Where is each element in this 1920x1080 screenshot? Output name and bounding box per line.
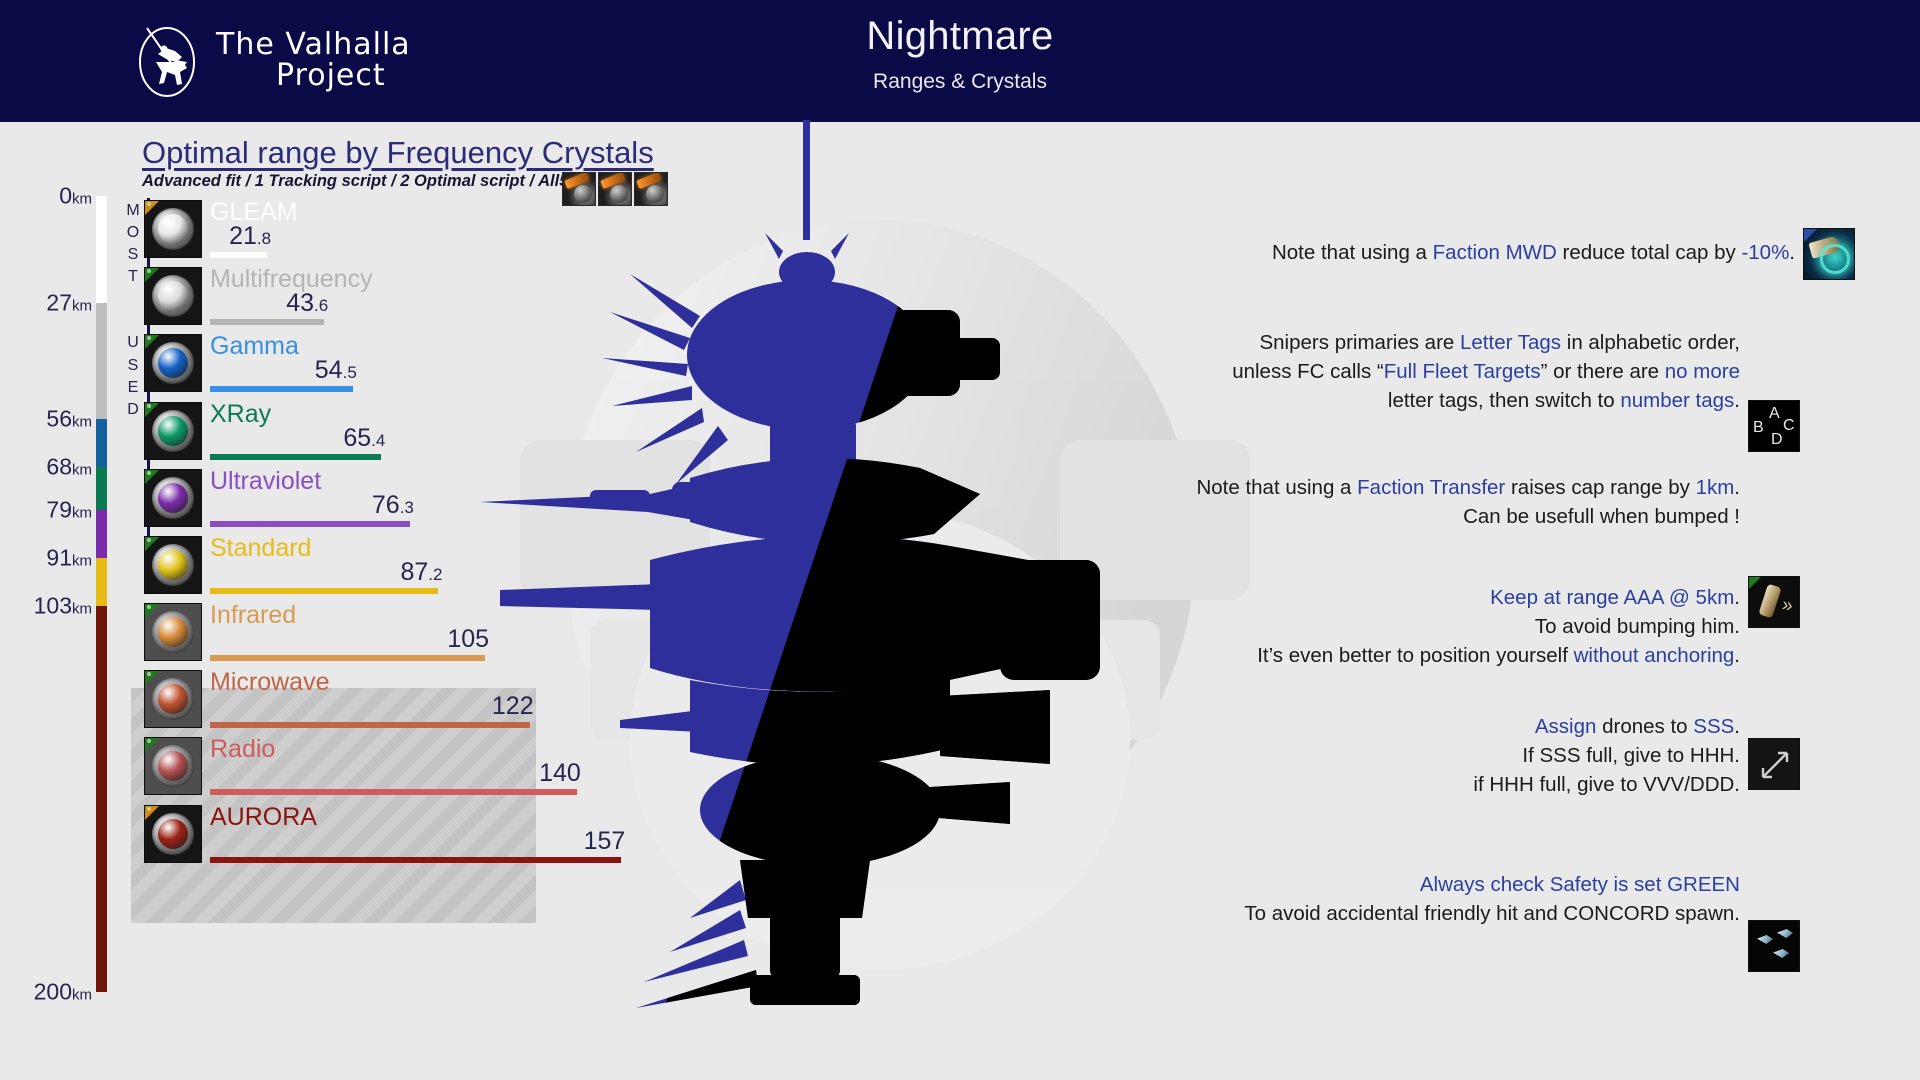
crystal-range-bar [210,857,621,863]
note-tags: Snipers primaries are Letter Tags in alp… [1232,328,1740,415]
crystal-icon [144,805,202,863]
faction-transfer-icon: » [1748,576,1800,628]
note-safety: Always check Safety is set GREENTo avoid… [1244,870,1740,928]
note-line: To avoid bumping him. [1257,612,1740,641]
crystal-range-value: 21.8 [229,222,271,251]
letter-tags-icon: ABCD [1748,400,1800,452]
note-line: letter tags, then switch to number tags. [1232,386,1740,415]
crystal-name: Ultraviolet [210,467,321,496]
crystal-range-value: 122 [492,692,534,721]
note-line: To avoid accidental friendly hit and CON… [1244,899,1740,928]
crystal-row[interactable]: Ultraviolet76.3 [0,469,700,529]
crystal-range-bar [210,386,353,392]
crystal-row[interactable]: GLEAM21.8 [0,200,700,260]
nightmare-ship-silhouette [440,120,1340,1080]
crystal-row[interactable]: XRay65.4 [0,402,700,462]
note-line: Note that using a Faction MWD reduce tot… [1272,238,1795,267]
crystal-row[interactable]: AURORA157 [0,805,700,865]
crystal-icon [144,670,202,728]
crystal-icon [144,536,202,594]
axis-segment [96,606,107,992]
keep-at-range-icon [1748,738,1800,790]
crystal-icon [144,603,202,661]
chart-title: Optimal range by Frequency Crystals [142,135,654,171]
crystal-icon [144,402,202,460]
page-header: The Valhalla Project Nightmare Ranges & … [0,0,1920,122]
page-root: The Valhalla Project Nightmare Ranges & … [0,0,1920,1080]
crystal-range-value: 54.5 [315,356,357,385]
crystal-row[interactable]: Standard87.2 [0,536,700,596]
crystal-name: AURORA [210,803,317,832]
crystal-range-bar [210,722,530,728]
crystal-name: Radio [210,735,275,764]
crystal-range-value: 105 [447,625,489,654]
crystal-row[interactable]: Microwave122 [0,670,700,730]
drones-icon [1748,920,1800,972]
crystal-row[interactable]: Gamma54.5 [0,334,700,394]
crystal-name: XRay [210,400,271,429]
crystal-range-value: 43.6 [286,289,328,318]
axis-tick-label: 200km [0,979,92,1006]
note-line: if HHH full, give to VVV/DDD. [1473,770,1740,799]
chart-subtitle: Advanced fit / 1 Tracking script / 2 Opt… [142,172,568,191]
crystal-icon [144,737,202,795]
note-line: Assign drones to SSS. [1473,712,1740,741]
crystal-range-bar [210,252,267,258]
note-line: If SSS full, give to HHH. [1473,741,1740,770]
note-line: Keep at range AAA @ 5km. [1257,583,1740,612]
crystal-range-bar [210,319,324,325]
crystal-name: Infrared [210,601,296,630]
note-line: It’s even better to position yourself wi… [1257,641,1740,670]
crystal-range-value: 140 [539,759,581,788]
note-line: Always check Safety is set GREEN [1244,870,1740,899]
crystal-row[interactable]: Radio140 [0,737,700,797]
crystal-range-bar [210,655,485,661]
note-line: Snipers primaries are Letter Tags in alp… [1232,328,1740,357]
note-transfer: Note that using a Faction Transfer raise… [1196,473,1740,531]
crystal-name: Microwave [210,668,329,697]
crystal-name: Standard [210,534,311,563]
crystal-range-value: 87.2 [400,558,442,587]
faction-mwd-icon [1803,228,1855,280]
crystal-range-value: 65.4 [343,424,385,453]
crystal-icon [144,200,202,258]
note-line: Can be usefull when bumped ! [1196,502,1740,531]
page-title: Nightmare [0,14,1920,59]
crystal-row[interactable]: Infrared105 [0,603,700,663]
note-line: Note that using a Faction Transfer raise… [1196,473,1740,502]
note-mwd: Note that using a Faction MWD reduce tot… [1272,238,1795,267]
crystal-icon [144,267,202,325]
crystal-range-bar [210,789,577,795]
crystal-range-bar [210,454,381,460]
note-range: Keep at range AAA @ 5km.To avoid bumping… [1257,583,1740,670]
crystal-row[interactable]: Multifrequency43.6 [0,267,700,327]
crystal-range-value: 157 [584,827,626,856]
crystal-icon [144,469,202,527]
crystal-range-value: 76.3 [372,491,414,520]
crystal-range-bar [210,588,438,594]
page-subtitle: Ranges & Crystals [0,70,1920,94]
crystal-range-bar [210,521,410,527]
crystal-name: Gamma [210,332,299,361]
note-line: unless FC calls “Full Fleet Targets” or … [1232,357,1740,386]
note-drones: Assign drones to SSS.If SSS full, give t… [1473,712,1740,799]
crystal-icon [144,334,202,392]
